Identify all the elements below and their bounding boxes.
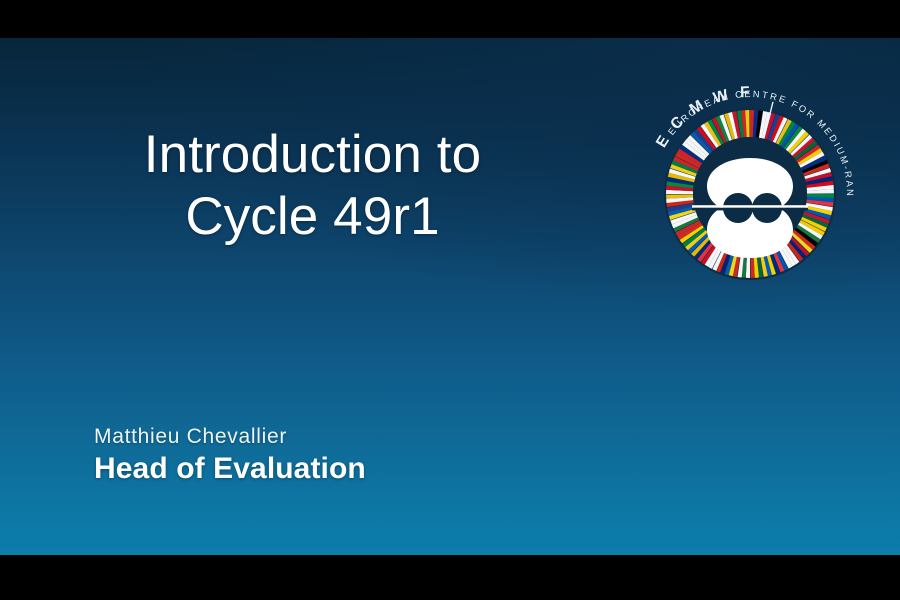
presenter-block: Matthieu Chevallier Head of Evaluation — [94, 423, 366, 488]
title-line-1: Introduction to — [60, 124, 565, 186]
presenter-role: Head of Evaluation — [94, 450, 366, 488]
slide-canvas: Introduction to Cycle 49r1 Matthieu Chev… — [0, 38, 900, 555]
title-line-2: Cycle 49r1 — [60, 186, 565, 248]
presentation-slide: Introduction to Cycle 49r1 Matthieu Chev… — [0, 0, 900, 600]
letterbox-bar-top — [0, 0, 900, 38]
presenter-name: Matthieu Chevallier — [94, 423, 366, 450]
ecmwf-logo: E C M W F EUROPEAN CENTRE FOR MEDIUM-RAN… — [630, 74, 870, 314]
slide-title: Introduction to Cycle 49r1 — [60, 124, 565, 248]
letterbox-bar-bottom — [0, 555, 900, 600]
